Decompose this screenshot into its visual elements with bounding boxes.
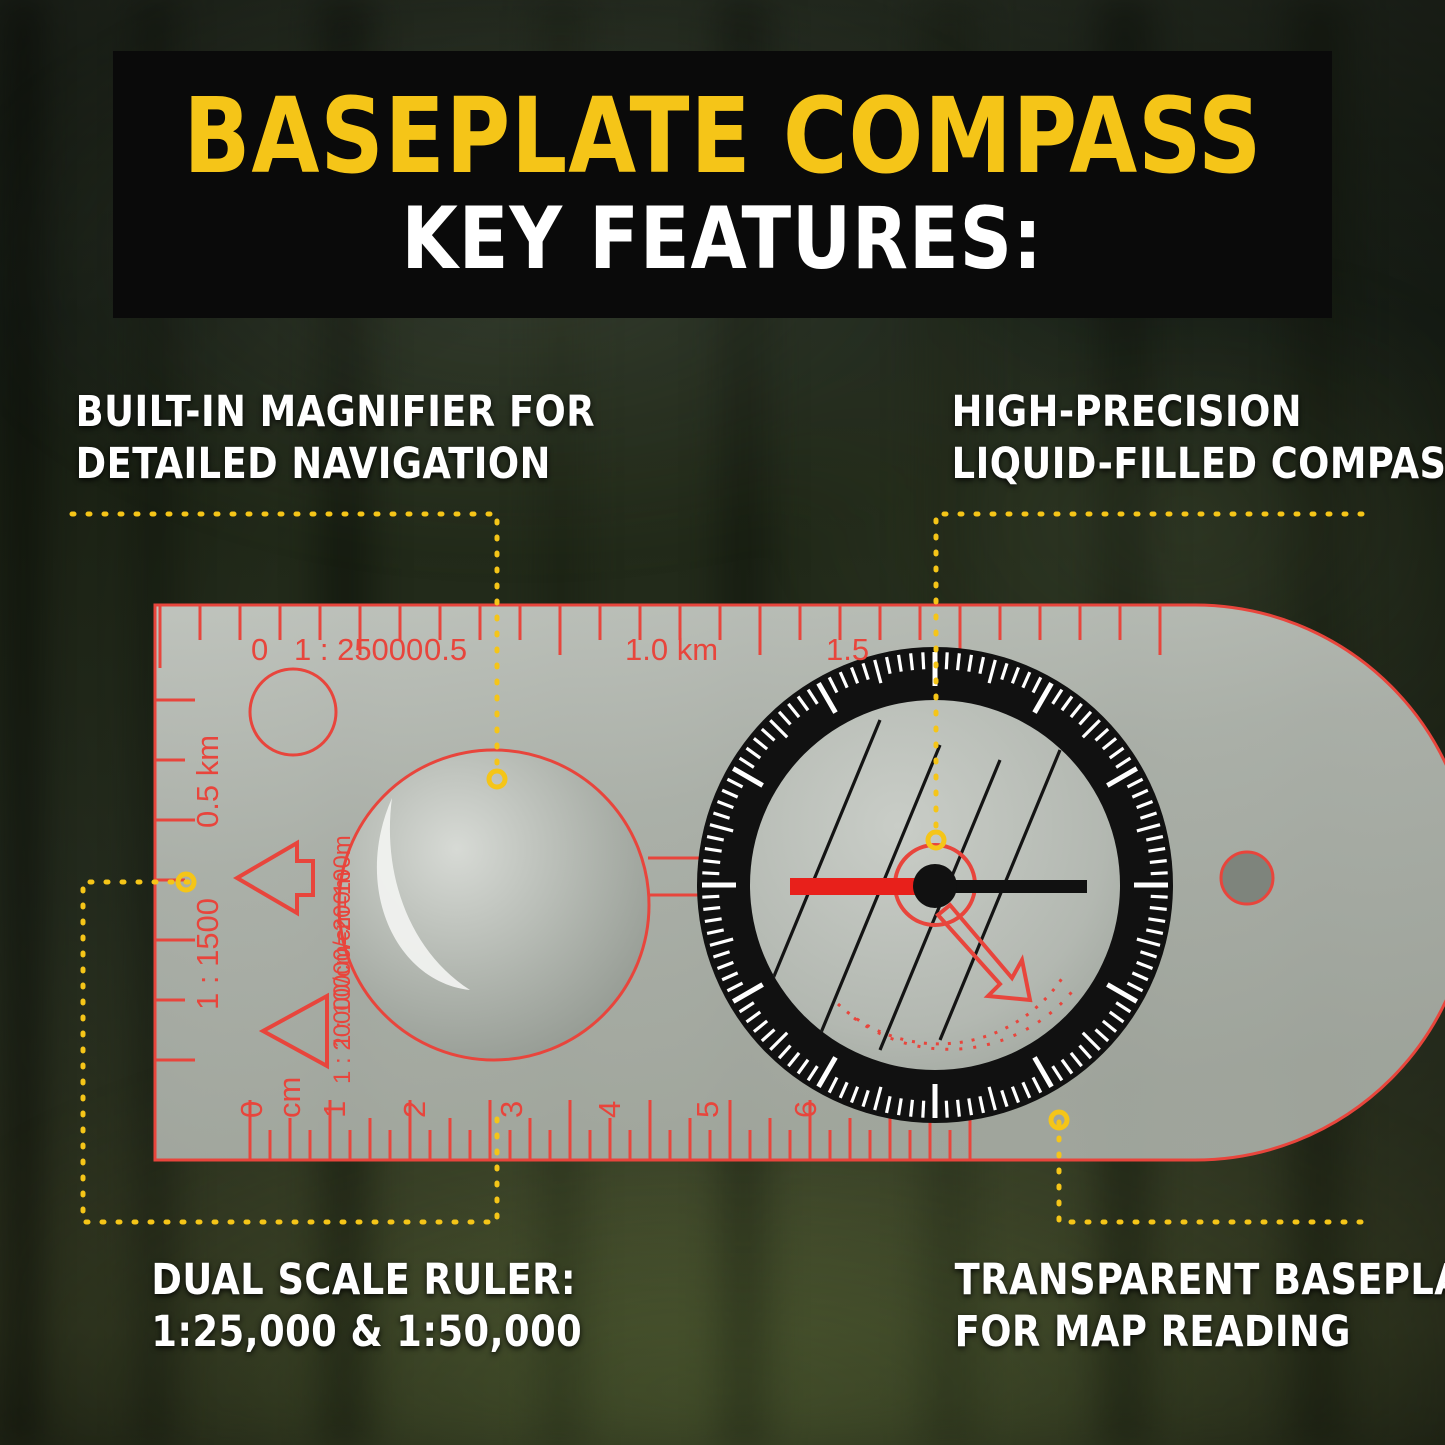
header-banner: BASEPLATE COMPASS KEY FEATURES: xyxy=(113,51,1332,318)
callout-magnifier-line2: DETAILED NAVIGATION xyxy=(76,438,595,490)
magnifier-lens xyxy=(339,750,649,1060)
callout-baseplate-line1: TRANSPARENT BASEPLATE xyxy=(955,1254,1445,1306)
callout-baseplate-line2: FOR MAP READING xyxy=(955,1306,1445,1358)
callout-baseplate: TRANSPARENT BASEPLATE FOR MAP READING xyxy=(955,1254,1445,1359)
lanyard-hole xyxy=(1221,852,1273,904)
callout-compass: HIGH-PRECISION LIQUID-FILLED COMPASS xyxy=(952,386,1445,491)
callout-compass-line2: LIQUID-FILLED COMPASS xyxy=(952,438,1445,490)
page-subtitle: KEY FEATURES: xyxy=(402,194,1044,284)
callout-ruler-line2: 1:25,000 & 1:50,000 xyxy=(151,1306,582,1358)
needle-south-black xyxy=(935,880,1087,893)
callout-magnifier-line1: BUILT-IN MAGNIFIER FOR xyxy=(76,386,595,438)
callout-magnifier: BUILT-IN MAGNIFIER FOR DETAILED NAVIGATI… xyxy=(76,386,595,491)
page-title: BASEPLATE COMPASS xyxy=(183,84,1262,188)
callout-compass-line1: HIGH-PRECISION xyxy=(952,386,1445,438)
needle-pivot xyxy=(913,864,957,908)
callout-ruler-line1: DUAL SCALE RULER: xyxy=(151,1254,582,1306)
callout-ruler: DUAL SCALE RULER: 1:25,000 & 1:50,000 xyxy=(151,1254,582,1359)
compass-capsule xyxy=(697,647,1173,1123)
